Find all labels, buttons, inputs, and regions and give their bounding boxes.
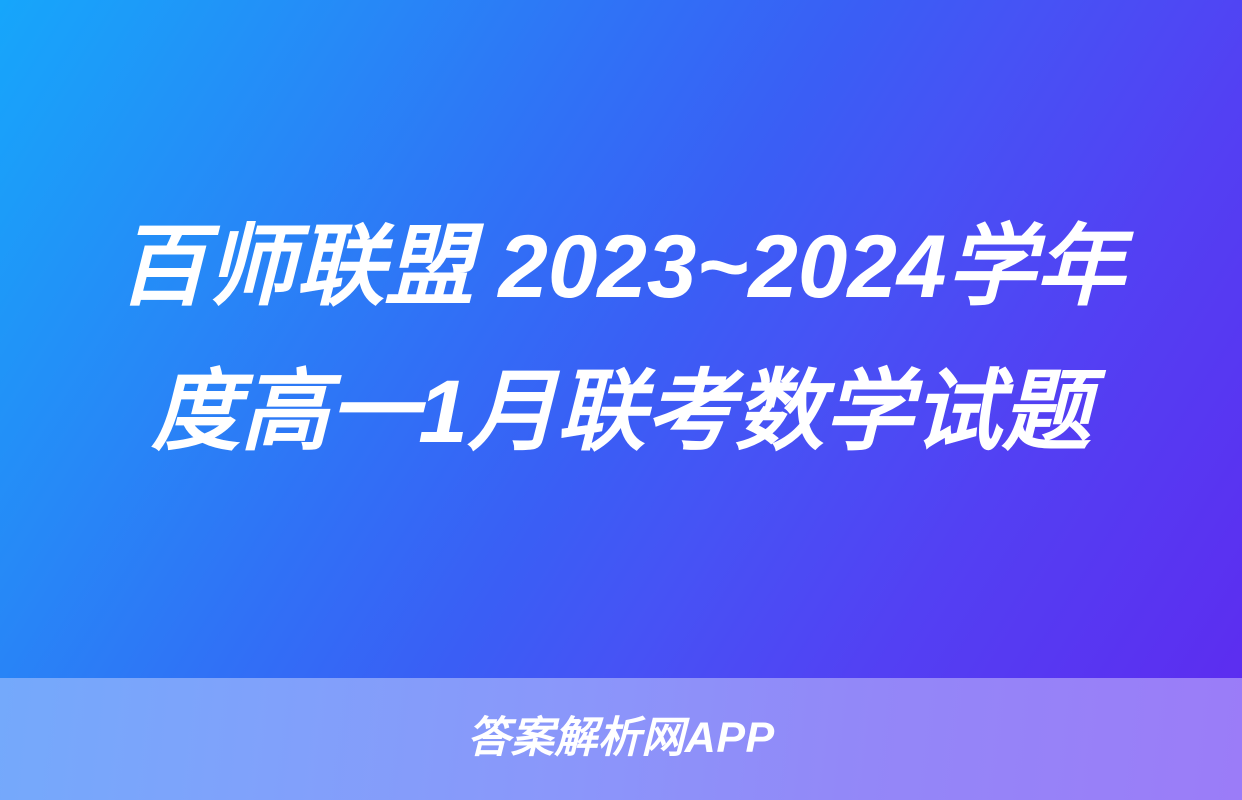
hero-banner: 百师联盟 2023~2024学年度高一1月联考数学试题 [0,0,1242,678]
page-title: 百师联盟 2023~2024学年度高一1月联考数学试题 [76,194,1166,484]
watermark-band: 答案解析网APP [0,678,1242,800]
share-card: 百师联盟 2023~2024学年度高一1月联考数学试题 答案解析网APP [0,0,1242,800]
hero-content: 百师联盟 2023~2024学年度高一1月联考数学试题 [76,194,1166,484]
app-watermark-label: 答案解析网APP [467,717,774,762]
